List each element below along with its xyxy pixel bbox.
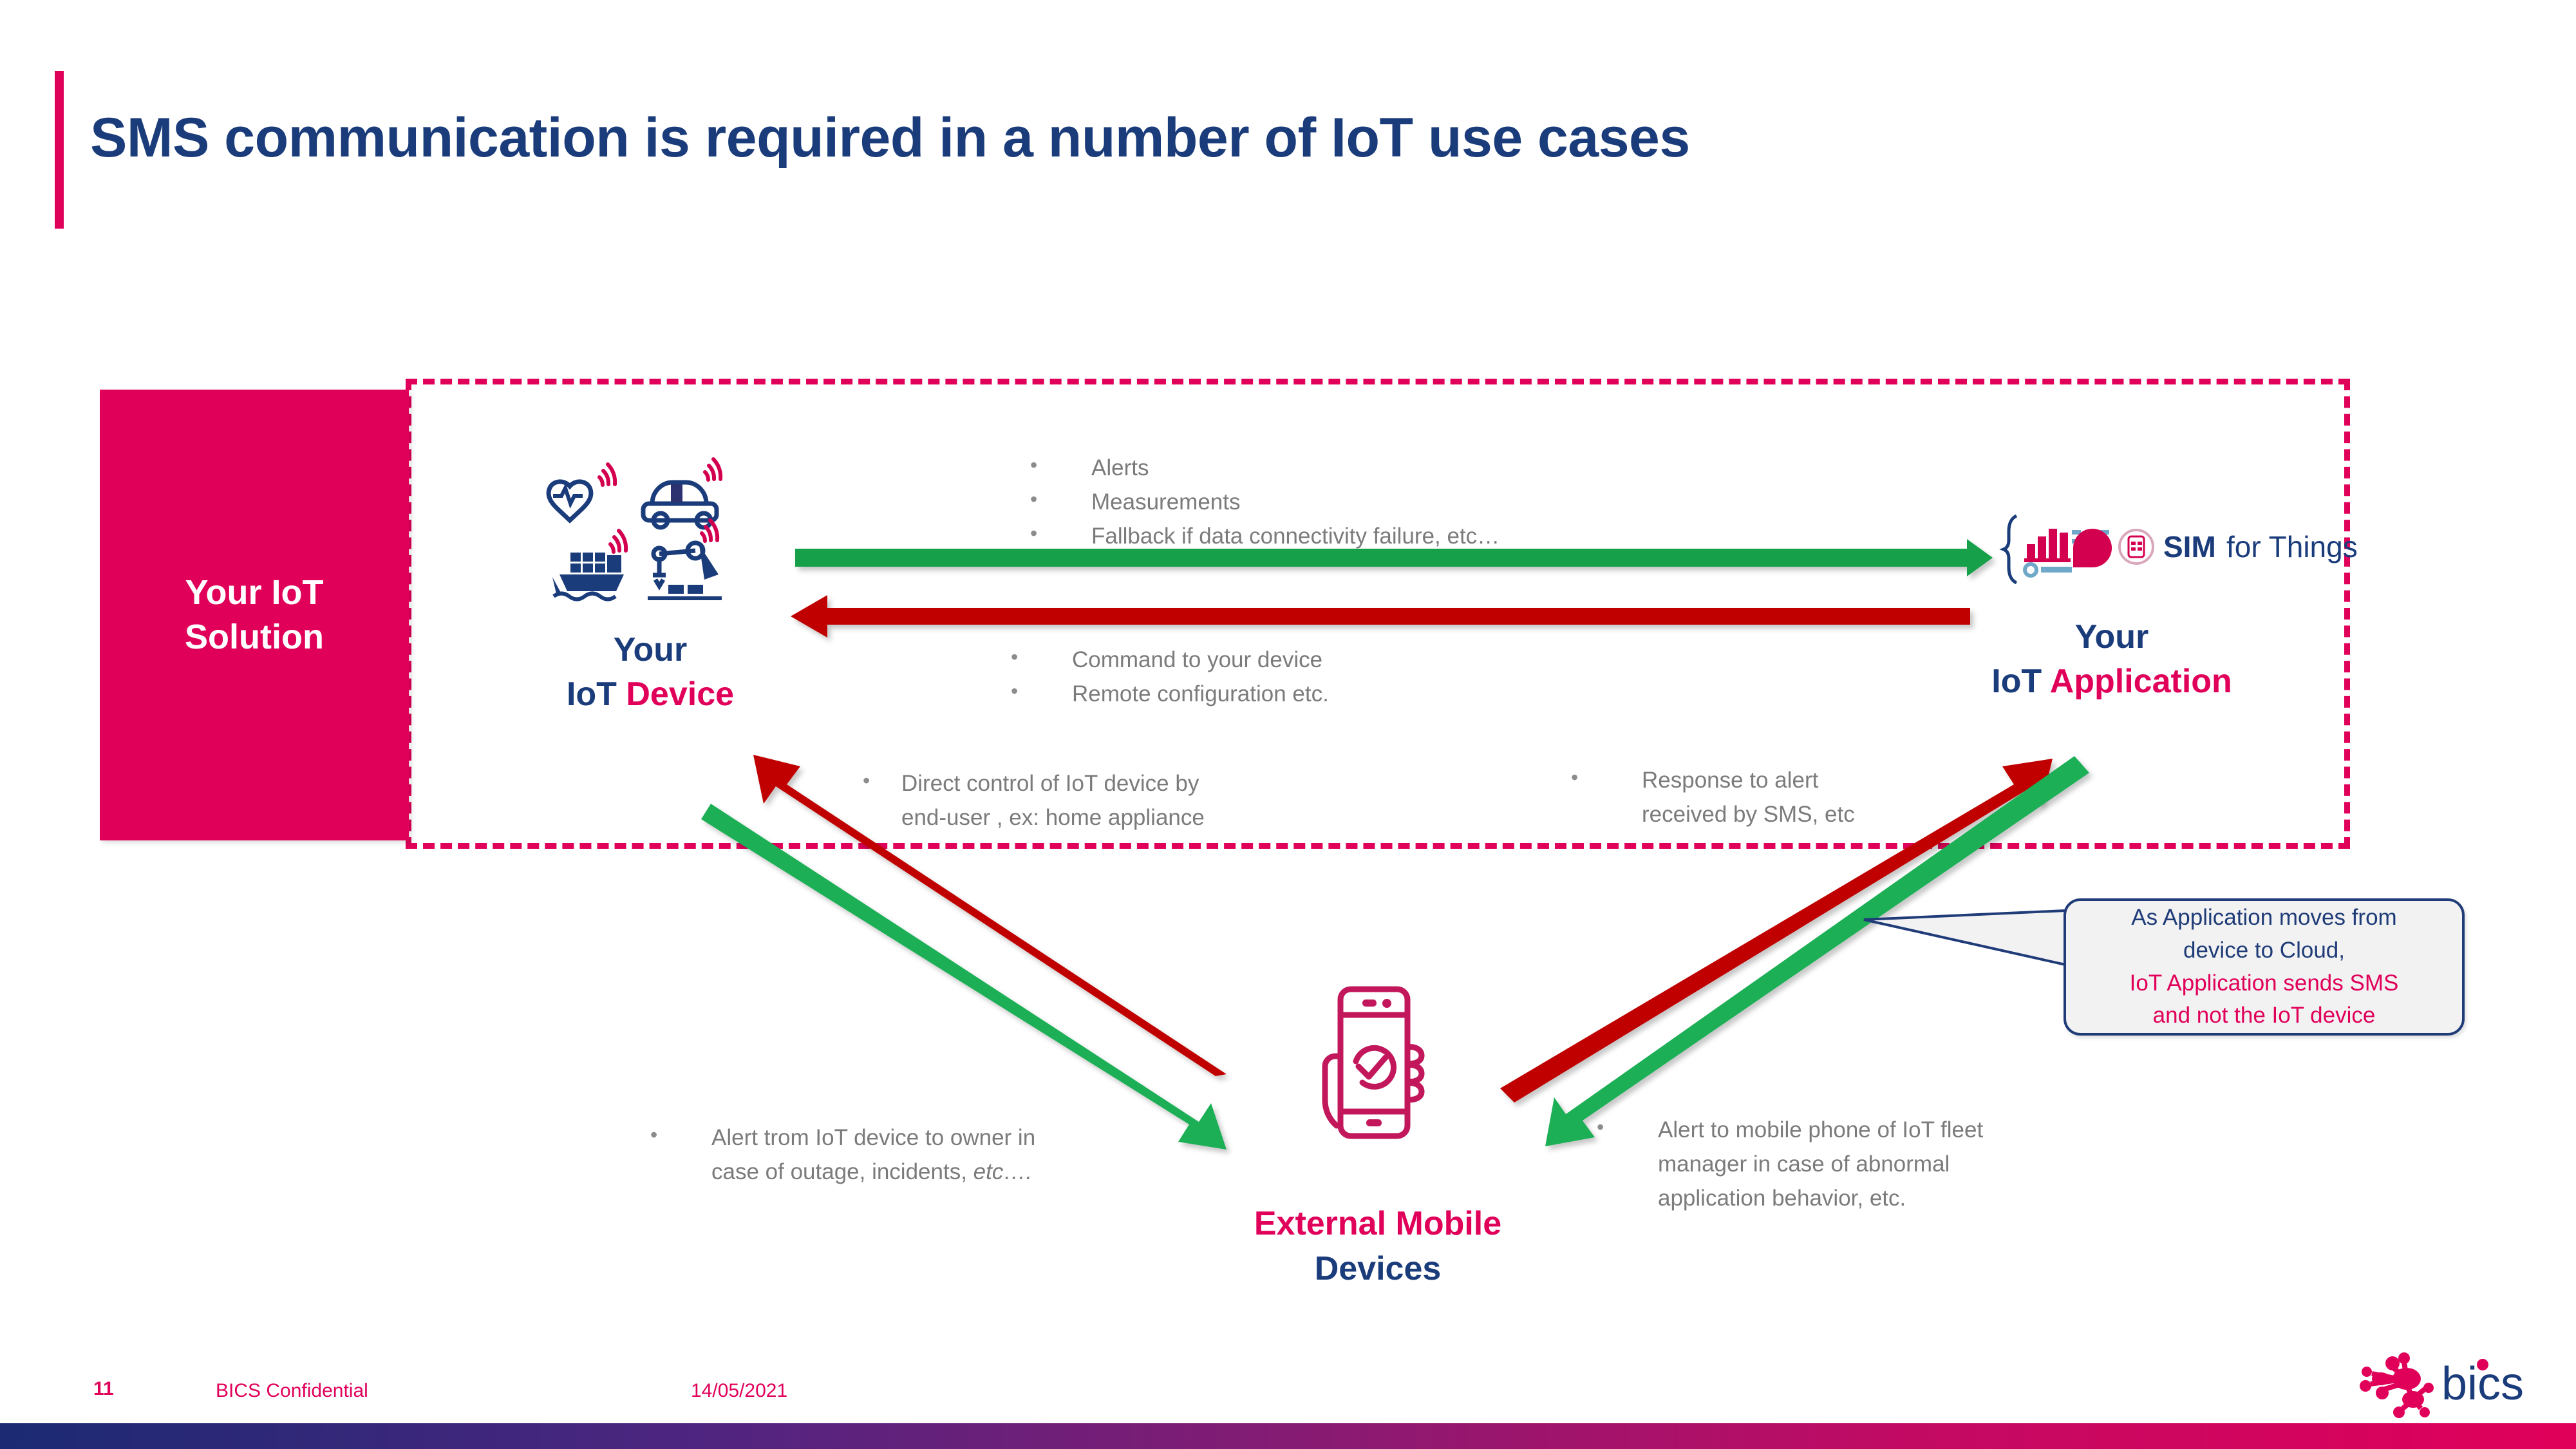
ship-wake xyxy=(554,594,616,600)
page-title: SMS communication is required in a numbe… xyxy=(90,106,1690,170)
bullet-line-1: Alert trom IoT device to owner in xyxy=(711,1125,1035,1150)
bullet-item: Measurements xyxy=(1030,485,1738,519)
footer-date: 14/05/2021 xyxy=(691,1380,787,1402)
device-label-accent: Device xyxy=(626,676,734,713)
robot-base xyxy=(648,596,722,600)
solution-panel-label: Your IoT Solution xyxy=(185,571,324,659)
bullet-line-2-italic: etc…. xyxy=(973,1159,1032,1184)
callout-leader-line xyxy=(1864,911,2065,965)
car-signal-waves xyxy=(705,459,720,480)
title-accent-bar xyxy=(55,71,64,229)
footer-confidentiality: BICS Confidential xyxy=(216,1380,368,1402)
callout-text: As Application moves from device to Clou… xyxy=(2130,902,2399,1032)
bics-logo-dot xyxy=(2477,1359,2488,1370)
logo-bracket xyxy=(2004,516,2017,583)
mobile-label-line1: External Mobile xyxy=(1254,1205,1501,1242)
device-label-prefix: IoT xyxy=(567,676,626,713)
bics-molecule-mark xyxy=(2360,1352,2434,1418)
bullets-mobile-to-device: Direct control of IoT device byend-user … xyxy=(863,766,1352,835)
bullet-item: Command to your device xyxy=(1011,643,1719,677)
iot-solution-boundary xyxy=(406,379,2350,849)
footer-page-number: 11 xyxy=(93,1378,114,1400)
bullet-line-2: end-user , ex: home appliance xyxy=(901,805,1205,830)
hand-holding-phone-icon xyxy=(1313,985,1436,1146)
bullet-line-1: Direct control of IoT device by xyxy=(901,771,1199,796)
iot-device-label: Your IoT Device xyxy=(451,628,850,717)
footer-gradient-bar xyxy=(0,1423,2576,1449)
logo-text-sim: SIM xyxy=(2163,530,2216,563)
sim-card-icon xyxy=(2120,530,2153,563)
callout-line2: device to Cloud, xyxy=(2183,938,2345,963)
callout-line4: and not the IoT device xyxy=(2153,1003,2376,1028)
iot-device-icon-group xyxy=(533,451,752,605)
bullet-line-1: Alert to mobile phone of IoT fleet xyxy=(1658,1117,1983,1142)
your-iot-solution-panel: Your IoT Solution xyxy=(100,390,409,840)
bullets-application-to-mobile: Alert to mobile phone of IoT fleetmanage… xyxy=(1597,1113,2131,1216)
arrow-device-to-mobile xyxy=(701,804,1227,1150)
bullet-item: Alert to mobile phone of IoT fleetmanage… xyxy=(1597,1113,2131,1216)
robotic-arm-icon xyxy=(653,543,703,586)
bullet-line-3: application behavior, etc. xyxy=(1658,1186,1906,1211)
ship-signal-waves xyxy=(610,531,626,552)
bullet-item: Fallback if data connectivity failure, e… xyxy=(1030,519,1738,553)
solution-label-line1: Your IoT xyxy=(185,573,324,612)
bullets-mobile-to-application: Response to alertreceived by SMS, etc xyxy=(1571,763,1970,831)
dashboard-analytics-icon xyxy=(2024,529,2112,576)
device-label-line1: Your xyxy=(614,631,688,668)
bullets-application-to-device: Command to your device Remote configurat… xyxy=(1011,643,1719,711)
bullets-device-to-mobile: Alert trom IoT device to owner incase of… xyxy=(650,1121,1198,1189)
bullet-item: Direct control of IoT device byend-user … xyxy=(863,766,1352,835)
bullet-item: Alerts xyxy=(1030,451,1738,485)
car-window-fill xyxy=(671,484,682,502)
heart-signal-waves xyxy=(599,464,615,485)
callout-line3: IoT Application sends SMS xyxy=(2130,971,2399,996)
external-mobile-devices-label: External Mobile Devices xyxy=(1107,1201,1648,1291)
cargo-ship-icon xyxy=(552,553,624,594)
robot-block-1 xyxy=(668,585,684,594)
bullet-item: Remote configuration etc. xyxy=(1011,677,1719,711)
mobile-label-line2: Devices xyxy=(1315,1250,1442,1287)
app-label-prefix: IoT xyxy=(1991,663,2050,700)
callout-line1: As Application moves from xyxy=(2131,905,2396,930)
bullet-item: Response to alertreceived by SMS, etc xyxy=(1571,763,1970,831)
callout-box: As Application moves from device to Clou… xyxy=(2064,898,2465,1036)
heart-rate-icon xyxy=(549,482,591,520)
app-label-accent: Application xyxy=(2050,663,2232,700)
sim-for-things-logo: SIM for Things xyxy=(2002,512,2350,583)
bics-logo: bics xyxy=(2356,1349,2543,1417)
iot-application-label: Your IoT Application xyxy=(1912,615,2311,704)
bullet-line-2: received by SMS, etc xyxy=(1642,802,1855,827)
bullets-device-to-application: Alerts Measurements Fallback if data con… xyxy=(1030,451,1738,554)
robotic-arm-head xyxy=(699,545,719,580)
bullet-line-2-plain: case of outage, incidents, xyxy=(711,1159,973,1184)
robot-block-2 xyxy=(688,585,703,594)
bullet-line-2: manager in case of abnormal xyxy=(1658,1151,1950,1177)
bullet-item: Alert trom IoT device to owner incase of… xyxy=(650,1121,1198,1189)
solution-label-line2: Solution xyxy=(185,618,324,656)
slide-canvas: SMS communication is required in a numbe… xyxy=(0,0,2576,1449)
logo-text-for-things: for Things xyxy=(2226,530,2358,563)
app-label-line1: Your xyxy=(2075,618,2149,656)
bullet-line-1: Response to alert xyxy=(1642,768,1818,793)
